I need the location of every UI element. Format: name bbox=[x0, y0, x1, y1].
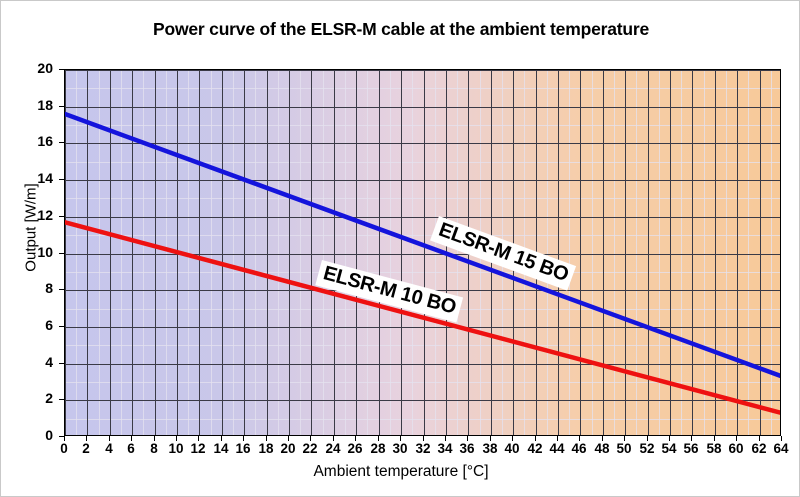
y-axis-title: Output [W/m] bbox=[23, 118, 40, 338]
y-axis-tick-label: 20 bbox=[13, 60, 53, 76]
series-line bbox=[65, 114, 781, 376]
series-line bbox=[65, 222, 781, 413]
y-axis-tick-label: 6 bbox=[13, 317, 53, 333]
y-axis-tick-label: 14 bbox=[13, 170, 53, 186]
y-axis-tick-label: 2 bbox=[13, 390, 53, 406]
y-axis-tick-label: 0 bbox=[13, 427, 53, 443]
y-axis-tick-label: 10 bbox=[13, 244, 53, 260]
y-axis-tick-label: 18 bbox=[13, 97, 53, 113]
plot-area bbox=[64, 69, 781, 436]
y-axis-tick-label: 8 bbox=[13, 280, 53, 296]
y-axis-tick-label: 16 bbox=[13, 133, 53, 149]
chart-page: Power curve of the ELSR-M cable at the a… bbox=[0, 0, 800, 497]
y-axis-tick-label: 12 bbox=[13, 207, 53, 223]
x-axis-tick-label: 64 bbox=[766, 441, 796, 456]
y-axis-tick bbox=[59, 436, 64, 437]
y-axis-tick-label: 4 bbox=[13, 354, 53, 370]
x-axis-title: Ambient temperature [°C] bbox=[1, 463, 800, 481]
series-lines bbox=[65, 70, 781, 436]
chart-title: Power curve of the ELSR-M cable at the a… bbox=[1, 19, 800, 40]
